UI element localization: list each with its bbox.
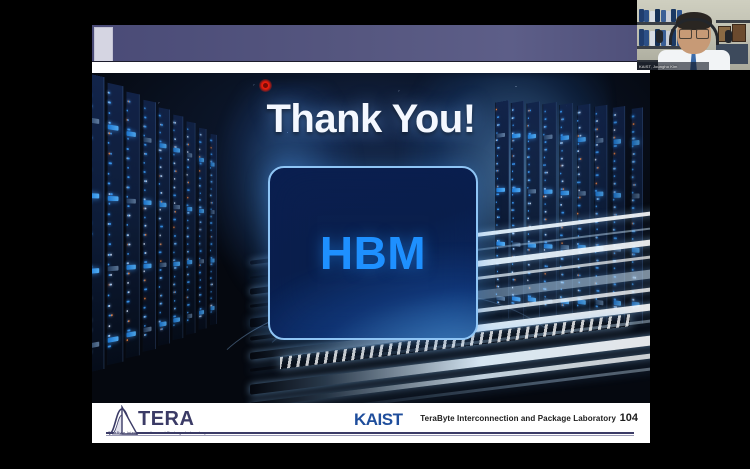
binder [639, 9, 644, 22]
slide-page-number: 104 [620, 412, 638, 424]
rack-column [158, 107, 170, 345]
picture-frame-1 [732, 24, 746, 42]
hbm-logo-text: HBM [270, 168, 476, 338]
binder [639, 29, 644, 46]
slide-title: Thank You! [92, 97, 650, 142]
toolbar-gap [92, 62, 650, 73]
kaist-logo: KAIST [354, 411, 403, 429]
headphone-ear-left [656, 30, 663, 43]
binder [644, 30, 649, 46]
screen-root: Thank You! HBM TERA TeraByte Interconnec… [0, 0, 750, 469]
slide-lab-name: TeraByte Interconnection and Package Lab… [420, 414, 616, 423]
tera-lab-logo: TERA TeraByte Interconnection and Packag… [106, 405, 230, 437]
bookshelf-plank-2 [637, 46, 683, 49]
slide-canvas: Thank You! HBM [92, 73, 650, 403]
presentation-window: Thank You! HBM TERA TeraByte Interconnec… [92, 25, 650, 443]
hbm-logo-card: HBM [268, 166, 478, 340]
binder [644, 10, 649, 22]
binder [650, 11, 655, 22]
headphone-ear-right [725, 30, 732, 43]
rack-column [186, 121, 195, 335]
binder [650, 31, 655, 46]
rack-column [210, 134, 217, 326]
tera-logo-subtitle: TeraByte Interconnection and Package Lab… [108, 430, 206, 435]
slide-footer: TERA TeraByte Interconnection and Packag… [92, 403, 650, 443]
binder [661, 10, 666, 22]
cursor-indicator-dot [259, 79, 272, 92]
tera-logo-word: TERA [138, 408, 194, 431]
binder [666, 11, 671, 22]
app-toolbar[interactable] [92, 25, 650, 62]
webcam-participant-name: KAIST, Joungho Kim [639, 64, 678, 69]
right-shelf-plank [716, 20, 750, 23]
rack-column [198, 128, 206, 330]
toolbar-left-block[interactable] [94, 27, 113, 62]
rack-column [173, 115, 183, 341]
kaist-logo-text: KAIST [354, 410, 403, 430]
webcam-video-tile[interactable]: KAIST, Joungho Kim [637, 0, 750, 70]
binder [655, 9, 660, 22]
